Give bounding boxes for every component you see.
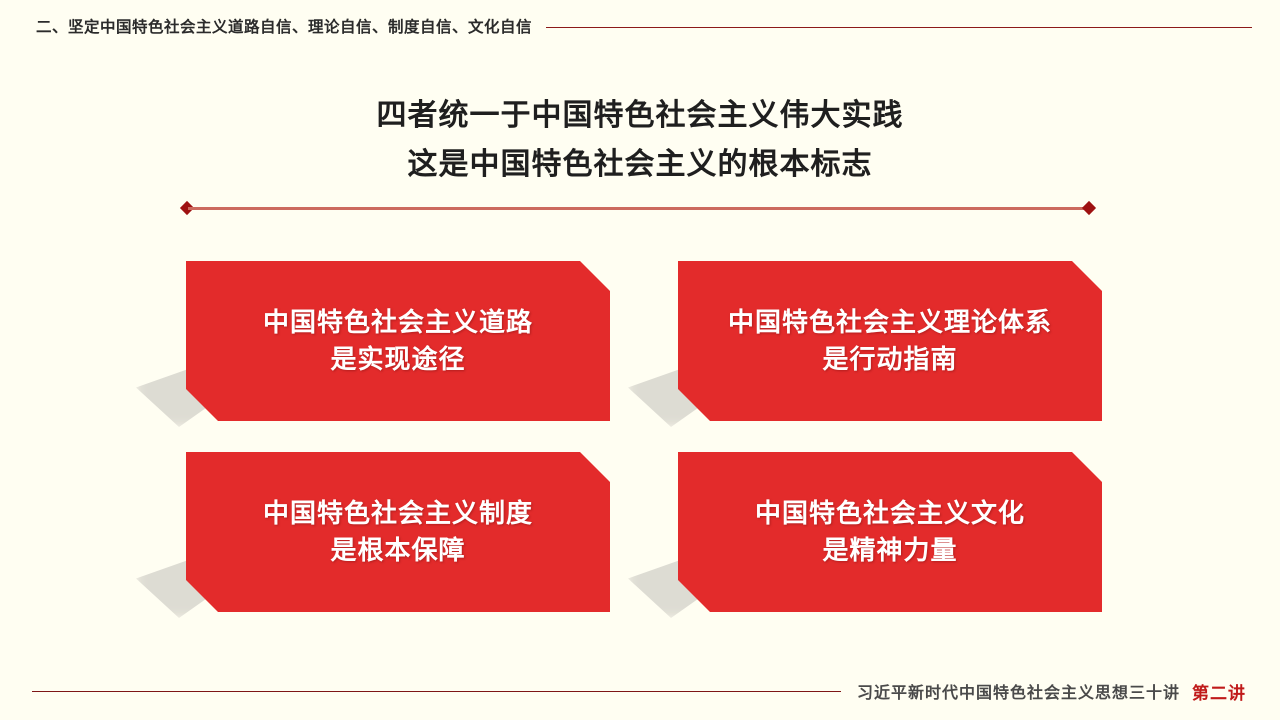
banner-grid: 中国特色社会主义道路 是实现途径 中国特色社会主义理论体系 是行动指南 中国特色… [0,261,1280,621]
title-divider [182,201,1094,215]
diamond-marker-right-icon [1082,201,1096,215]
banner-item-culture[interactable]: 中国特色社会主义文化 是精神力量 [678,452,1102,612]
banner-line-2: 是实现途径 [330,341,465,378]
banner-line-2: 是根本保障 [330,532,465,569]
title-block: 四者统一于中国特色社会主义伟大实践 这是中国特色社会主义的根本标志 [0,92,1280,189]
banner-shape[interactable]: 中国特色社会主义文化 是精神力量 [678,452,1102,612]
divider-line [188,207,1088,210]
banner-item-system[interactable]: 中国特色社会主义制度 是根本保障 [186,452,610,612]
banner-line-1: 中国特色社会主义理论体系 [728,304,1052,341]
banner-line-1: 中国特色社会主义道路 [263,304,533,341]
footer-lecture-label: 第二讲 [1192,679,1246,704]
slide-header: 二、坚定中国特色社会主义道路自信、理论自信、制度自信、文化自信 [0,0,1280,52]
banner-line-2: 是精神力量 [822,532,957,569]
banner-item-path[interactable]: 中国特色社会主义道路 是实现途径 [186,261,610,421]
footer-title: 习近平新时代中国特色社会主义思想三十讲 [857,679,1180,703]
header-title: 二、坚定中国特色社会主义道路自信、理论自信、制度自信、文化自信 [36,15,532,37]
banner-shape[interactable]: 中国特色社会主义道路 是实现途径 [186,261,610,421]
footer-rule [32,691,841,692]
banner-shape[interactable]: 中国特色社会主义理论体系 是行动指南 [678,261,1102,421]
banner-shape[interactable]: 中国特色社会主义制度 是根本保障 [186,452,610,612]
banner-line-1: 中国特色社会主义文化 [755,495,1025,532]
banner-item-theory[interactable]: 中国特色社会主义理论体系 是行动指南 [678,261,1102,421]
banner-line-1: 中国特色社会主义制度 [263,495,533,532]
slide-footer: 习近平新时代中国特色社会主义思想三十讲 第二讲 [0,662,1280,720]
title-line-1: 四者统一于中国特色社会主义伟大实践 [0,92,1280,141]
title-line-2: 这是中国特色社会主义的根本标志 [0,141,1280,190]
banner-line-2: 是行动指南 [822,341,957,378]
header-rule [546,27,1252,28]
